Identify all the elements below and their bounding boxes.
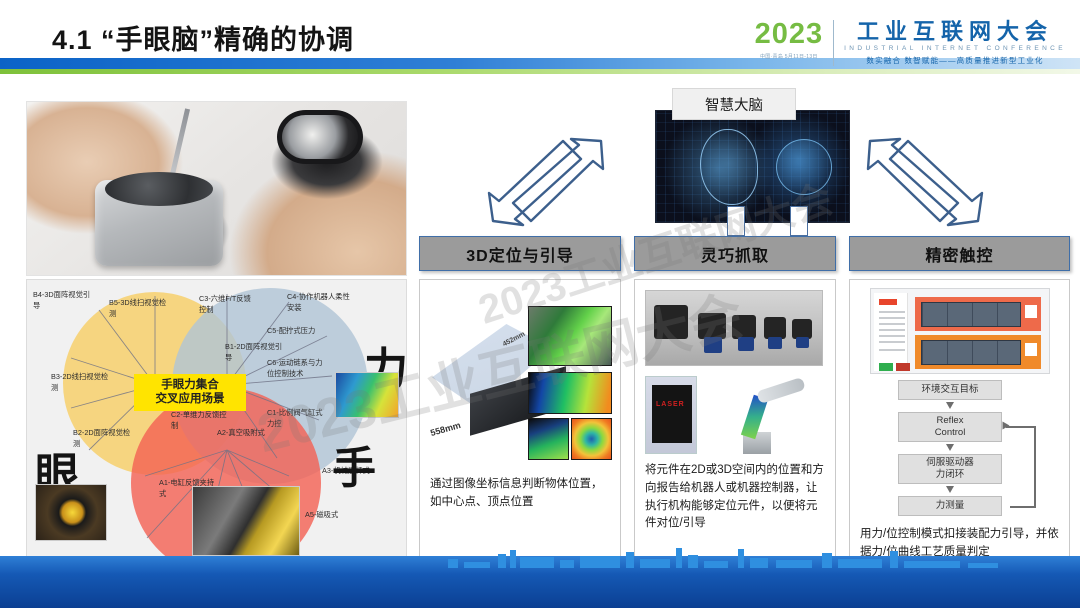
building [750, 558, 768, 568]
gripper-1 [654, 305, 688, 339]
software-row-7 [879, 349, 905, 351]
flow-arrow-2-icon [946, 444, 954, 451]
logo-conference-cn: 工业互联网大会 [844, 20, 1066, 43]
laser-body-shape [652, 385, 692, 443]
venn-center-label: 手眼力集合 交叉应用场景 [134, 374, 246, 411]
watchmaker-photo [26, 101, 407, 276]
force-control-software-screenshot [870, 288, 1050, 374]
building [704, 561, 728, 568]
software-badge [879, 299, 897, 305]
building [688, 555, 698, 568]
building [626, 552, 634, 568]
building [838, 559, 882, 568]
smart-brain-image [655, 110, 850, 223]
gripper-2-motor [704, 337, 722, 353]
venn-label-C3: C3-六维F/T反馈控制 [199, 294, 257, 316]
gripper-4 [764, 317, 786, 339]
software-start-button[interactable] [879, 363, 893, 371]
software-row-2 [879, 317, 905, 319]
section-header-3d-positioning[interactable]: 3D定位与引导 [419, 236, 621, 271]
double-arrow-left-icon [485, 135, 605, 227]
software-sidebar [874, 293, 908, 371]
scan-tile-depth-ring [571, 418, 612, 460]
page-title: 4.1 “手眼脑”精确的协调 [52, 18, 354, 57]
fea-thumbnail [335, 372, 399, 418]
logo-conference-en: INDUSTRIAL INTERNET CONFERENCE [844, 45, 1066, 52]
venn-label-A2: A2-真空吸附式 [217, 428, 275, 439]
robot-upper-arm-shape [756, 377, 806, 404]
flow-node-force-measure: 力测量 [898, 496, 1002, 516]
venn-label-C5: C5-配拧式压力 [267, 326, 325, 337]
flow-arrow-3-icon [946, 486, 954, 493]
gripper-3-motor [738, 337, 754, 351]
slide-root: 4.1 “手眼脑”精确的协调 2023 中国·青岛 5月11日-13日 工业互联… [0, 0, 1080, 608]
force-plot-2 [921, 340, 1021, 365]
building [560, 560, 574, 568]
building [738, 549, 744, 568]
scan-tile-depth-left [528, 418, 569, 460]
gripper-3 [732, 315, 756, 339]
flow-feedback-top [1006, 426, 1036, 428]
logo-text-block: 工业互联网大会 INDUSTRIAL INTERNET CONFERENCE 数… [844, 20, 1066, 66]
software-stop-button[interactable] [896, 363, 910, 371]
building [676, 548, 682, 568]
building [580, 556, 620, 568]
gripper-lineup-image [645, 290, 823, 366]
flow-feedback-bottom [1010, 506, 1036, 508]
robot-arm-fea-image [713, 376, 823, 456]
panel-3d-positioning: 558mm 452mm 通过图像坐标信息判断物体位置，如中心点、顶点位置 [419, 279, 621, 568]
building [822, 553, 832, 568]
big-char-hand: 手 [332, 432, 376, 496]
force-plot-panel-1 [915, 297, 1041, 331]
watch-movement-shape [95, 180, 223, 266]
software-row-1 [879, 311, 905, 313]
force-plot-1 [921, 302, 1021, 327]
venn-diagram-panel: 手眼力集合 交叉应用场景 B4-3D面阵视觉引导 B5-3D线扫视觉检测 B3-… [26, 279, 407, 568]
tweezer-shape [169, 108, 190, 179]
scan-tile-depth-panel [528, 372, 612, 414]
venn-label-B4: B4-3D面阵视觉引导 [33, 290, 97, 312]
venn-label-C6: C6-运动链系与力位控制技术 [267, 358, 327, 380]
gripper-4-motor [768, 337, 782, 349]
panel-2-caption: 将元件在2D或3D空间内的位置和方向报告给机器人或机器控制器，让执行机构能够定位… [645, 462, 827, 533]
venn-label-C1: C1-比例阀气缸式力控 [267, 408, 325, 430]
arrow-pair-right [866, 135, 986, 227]
title-rule-green [0, 69, 1080, 74]
plot-2-legend [1025, 343, 1037, 356]
city-skyline-silhouette [0, 546, 1080, 568]
flow-node-reflex-control: Reflex Control [898, 412, 1002, 442]
flow-arrow-1-icon [946, 402, 954, 409]
logo-date: 中国·青岛 5月11日-13日 [755, 53, 824, 60]
3d-scan-illustration: 558mm 452mm [424, 284, 618, 462]
scan-tile-depth-scene [528, 306, 612, 366]
logo-divider [833, 20, 834, 66]
venn-label-B3: B3-2D线扫视觉检测 [51, 372, 109, 394]
building [464, 562, 490, 568]
venn-label-B2: B2-2D面阵视觉检测 [73, 428, 131, 450]
eye-thumbnail [35, 484, 107, 541]
loupe-icon [277, 110, 363, 164]
plot-1-legend [1025, 305, 1037, 318]
building [776, 560, 812, 568]
panel-1-caption: 通过图像坐标信息判断物体位置，如中心点、顶点位置 [430, 476, 612, 512]
logo-year: 2023 [755, 20, 824, 49]
section-header-dexterous-grasp[interactable]: 灵巧抓取 [634, 236, 836, 271]
gripper-5 [792, 319, 812, 339]
building [890, 551, 898, 568]
section-header-precision-touch[interactable]: 精密触控 [849, 236, 1070, 271]
venn-label-A5: A5-磁吸式 [305, 510, 363, 521]
software-row-6 [879, 341, 905, 343]
up-arrow-center [727, 206, 745, 236]
building [904, 561, 960, 568]
panel-precision-touch: 环境交互目标 Reflex Control 伺服驱动器 力闭环 力测量 用力/位… [849, 279, 1070, 568]
software-row-3 [879, 323, 905, 325]
logo-slogan: 数实融合 数智赋能——高质量推进新型工业化 [844, 55, 1066, 66]
laser-sensor-image: LASER [645, 376, 697, 454]
venn-center-line-1: 手眼力集合 [136, 378, 244, 392]
force-plot-panel-2 [915, 335, 1041, 369]
building [968, 563, 998, 568]
software-row-4 [879, 329, 905, 331]
software-row-5 [879, 335, 905, 337]
building [448, 559, 458, 568]
flow-node-servo-force-loop: 伺服驱动器 力闭环 [898, 454, 1002, 484]
arrow-pair-left [485, 135, 605, 227]
building [510, 550, 516, 568]
flow-node-environment-goal: 环境交互目标 [898, 380, 1002, 400]
gripper-5-motor [796, 337, 809, 348]
flow-feedback-arrow-icon [1003, 422, 1010, 430]
building [520, 557, 554, 568]
smart-brain-label: 智慧大脑 [672, 88, 796, 120]
venn-label-B5: B5-3D线扫视觉检测 [109, 298, 167, 320]
head-outline-icon [700, 129, 758, 205]
up-arrow-center-2 [790, 206, 808, 236]
flow-feedback-right [1034, 426, 1036, 508]
building [498, 554, 506, 568]
logo-year-block: 2023 中国·青岛 5月11日-13日 [755, 20, 834, 60]
venn-label-C4: C4-协作机器人柔性安装 [287, 292, 357, 314]
scan-dimension-label: 558mm [429, 420, 462, 438]
laser-label: LASER [656, 401, 685, 408]
gripper-2 [698, 313, 726, 339]
globe-icon [776, 139, 832, 195]
venn-center-line-2: 交叉应用场景 [136, 392, 244, 406]
panel-dexterous-grasp: LASER 将元件在2D或3D空间内的位置和方向报告给机器人或机器控制器，让执行… [634, 279, 836, 568]
double-arrow-right-icon [866, 135, 986, 227]
building [640, 559, 670, 568]
conference-logo: 2023 中国·青岛 5月11日-13日 工业互联网大会 INDUSTRIAL … [755, 20, 1066, 66]
